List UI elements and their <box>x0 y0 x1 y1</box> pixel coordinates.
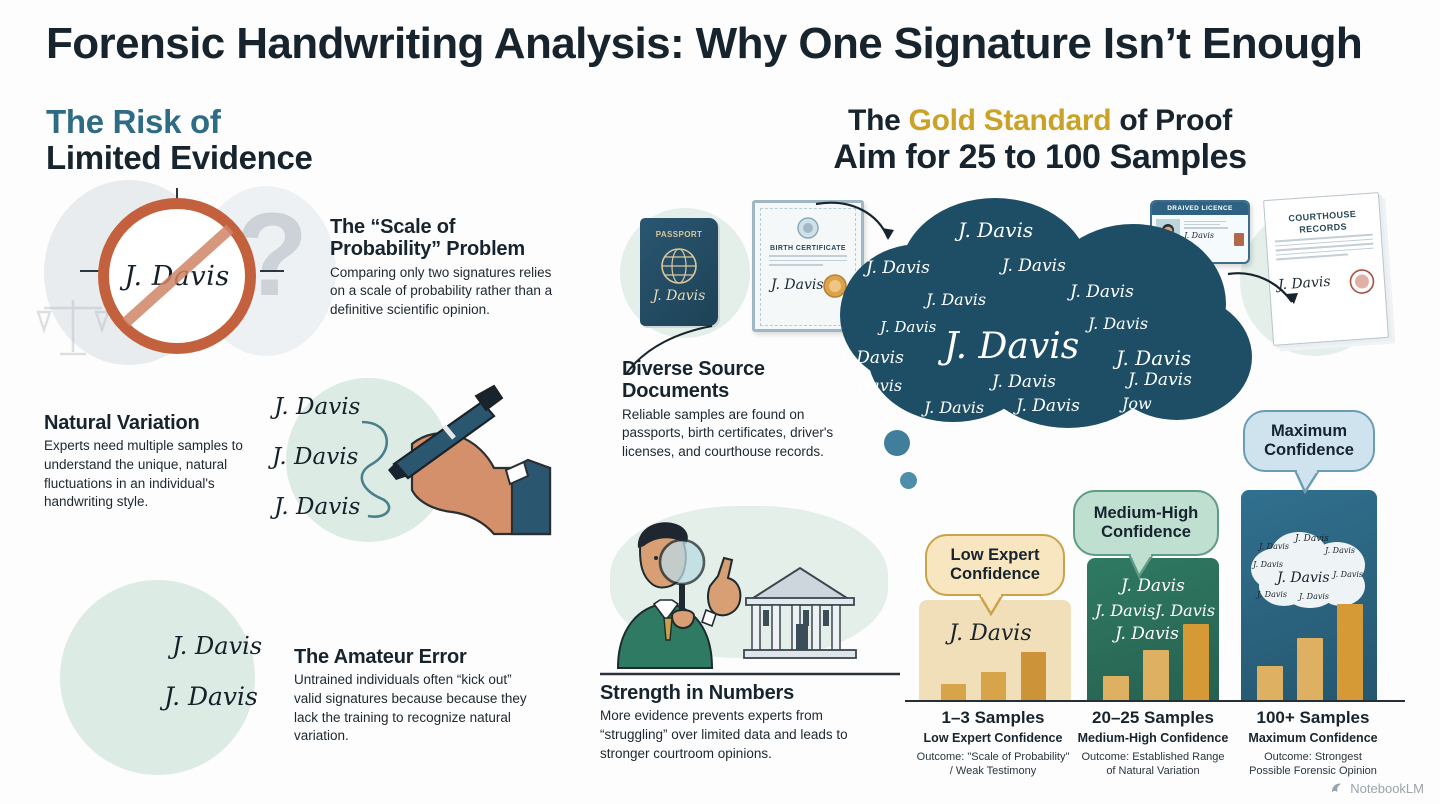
cloud-signature-center: J. Davis <box>944 326 1079 367</box>
bubble-tail-group-3 <box>1293 470 1321 494</box>
watermark-label: NotebookLM <box>1350 781 1424 796</box>
chart-bar-g2-b1 <box>1103 676 1129 700</box>
confidence-bar-chart: J. Davis Low Expert Confidence 1–3 Sampl… <box>905 470 1405 788</box>
passport-label: PASSPORT <box>640 230 718 239</box>
panel-signature-g2-3: J. Davis <box>1155 601 1215 620</box>
panel-signature-g3-3: J. Davis <box>1325 546 1355 555</box>
block-title: The Amateur Error <box>294 646 540 668</box>
right-heading-line1: The Gold Standard of Proof <box>790 104 1290 137</box>
right-section-heading: The Gold Standard of Proof Aim for 25 to… <box>790 104 1290 176</box>
cloud-signature: J. Davis <box>840 348 904 368</box>
cloud-signature: J. Davis <box>866 258 930 278</box>
rejected-signature-graphic: J. Davis <box>80 198 270 356</box>
cloud-signature: J. Davis <box>1016 396 1080 416</box>
caption-outcome-line1: Outcome: Strongest <box>1264 751 1362 763</box>
cloud-signature: J. Davis <box>1128 370 1192 390</box>
left-section-heading: The Risk of Limited Evidence <box>46 104 313 175</box>
bubble-line2: Confidence <box>950 565 1040 584</box>
caption-outcome-line2: / Weak Testimony <box>950 765 1036 777</box>
panel-signature-g2-4: J. Davis <box>1115 624 1179 644</box>
block-body: Reliable samples are found on passports,… <box>622 406 844 462</box>
left-heading-line2: Limited Evidence <box>46 140 313 176</box>
two-signature-circle-graphic <box>60 580 255 775</box>
caption-outcome: Outcome: "Scale of Probability" / Weak T… <box>905 750 1081 778</box>
block-title: The “Scale of Probability” Problem <box>330 216 566 261</box>
panel-signature-g2-1: J. Davis <box>1121 576 1185 596</box>
chart-caption-group-3: 100+ Samples Maximum Confidence Outcome:… <box>1221 708 1405 778</box>
bubble-tail-group-1 <box>977 594 1005 616</box>
cloud-signature: J. Davis <box>926 290 986 309</box>
certificate-signature: J. Davis <box>771 277 824 293</box>
cloud-signature: J. Davis <box>1070 282 1134 302</box>
right-heading-suffix: of Proof <box>1111 104 1232 137</box>
cloud-signature: J. Davis <box>924 398 984 417</box>
panel-signature-group-1: J. Davis <box>949 621 1032 646</box>
chart-bar-g1-b3 <box>1021 652 1046 700</box>
detective-icon <box>618 522 740 668</box>
block-body: Comparing only two signatures relies on … <box>330 264 566 320</box>
caption-confidence: Low Expert Confidence <box>905 731 1081 745</box>
caption-outcome-line1: Outcome: Established Range <box>1081 751 1224 763</box>
panel-signature-g3-7: J. Davis <box>1299 592 1329 601</box>
block-title: Diverse Source Documents <box>622 358 844 403</box>
text-block-diverse-source-documents: Diverse Source Documents Reliable sample… <box>622 358 844 462</box>
notebooklm-icon <box>1330 781 1345 796</box>
cloud-signature-short: Jow <box>1122 394 1152 413</box>
chart-caption-group-2: 20–25 Samples Medium-High Confidence Out… <box>1065 708 1241 778</box>
globe-icon <box>640 245 718 287</box>
block-title-line2: Probability” Problem <box>330 238 525 260</box>
block-body: More evidence prevents experts from “str… <box>600 707 876 763</box>
cloud-signature: J. Davis <box>1088 314 1148 333</box>
chart-bar-g3-b2 <box>1297 638 1323 700</box>
block-body: Experts need multiple samples to underst… <box>44 437 270 512</box>
caption-category: 1–3 Samples <box>905 708 1081 728</box>
passport-signature: J. Davis <box>640 288 718 304</box>
panel-signature-g3-4: J. Davis <box>1253 560 1283 569</box>
caption-outcome-line1: Outcome: "Scale of Probability" <box>917 751 1070 763</box>
caption-confidence: Medium-High Confidence <box>1065 731 1241 745</box>
bubble-line1: Maximum <box>1271 422 1347 441</box>
block-title: Strength in Numbers <box>600 682 876 704</box>
text-block-amateur-error: The Amateur Error Untrained individuals … <box>294 646 540 746</box>
chart-bar-g2-b2 <box>1143 650 1169 700</box>
block-title-line1: The “Scale of <box>330 216 455 238</box>
chart-bar-g1-b1 <box>941 684 966 700</box>
caption-outcome-line2: Possible Forensic Opinion <box>1249 765 1377 777</box>
caption-category: 100+ Samples <box>1221 708 1405 728</box>
decor-blob-blue-dot-1 <box>884 430 910 456</box>
bubble-tail-group-2 <box>1127 554 1155 578</box>
chart-caption-group-1: 1–3 Samples Low Expert Confidence Outcom… <box>905 708 1081 778</box>
left-heading-line1: The Risk of <box>46 104 313 140</box>
block-title-line1: Diverse Source <box>622 358 765 380</box>
panel-signature-g3-1: J. Davis <box>1259 542 1289 551</box>
panel-signature-g3-2: J. Davis <box>1295 534 1329 544</box>
confidence-bubble-group-3: Maximum Confidence <box>1243 410 1375 472</box>
bubble-line1: Medium-High <box>1094 504 1199 523</box>
chart-bar-g3-b1 <box>1257 666 1283 700</box>
circle-signature-1: J. Davis <box>172 632 262 660</box>
panel-signature-g3-6: J. Davis <box>1257 590 1287 599</box>
hand-pen-illustration <box>262 372 562 552</box>
caption-outcome: Outcome: Strongest Possible Forensic Opi… <box>1221 750 1405 778</box>
bubble-line2: Confidence <box>1264 441 1354 460</box>
chart-bar-g2-b3 <box>1183 624 1209 700</box>
crosshair-right-tick <box>260 270 284 272</box>
panel-signature-g3-5: J. Davis <box>1333 570 1363 579</box>
text-block-strength-in-numbers: Strength in Numbers More evidence preven… <box>600 682 876 763</box>
infographic-canvas: Forensic Handwriting Analysis: Why One S… <box>0 0 1440 804</box>
right-heading-line2: Aim for 25 to 100 Samples <box>790 139 1290 176</box>
block-body: Untrained individuals often “kick out” v… <box>294 671 540 746</box>
caption-outcome: Outcome: Established Range of Natural Va… <box>1065 750 1241 778</box>
confidence-bubble-group-1: Low Expert Confidence <box>925 534 1065 596</box>
right-heading-prefix: The <box>848 104 908 137</box>
text-block-natural-variation: Natural Variation Experts need multiple … <box>44 412 270 512</box>
caption-confidence: Maximum Confidence <box>1221 731 1405 745</box>
cloud-signature: J. Davis <box>842 376 902 395</box>
notebooklm-watermark: NotebookLM <box>1330 781 1424 796</box>
circle-signature-2: J. Davis <box>164 682 258 711</box>
block-title: Natural Variation <box>44 412 270 434</box>
courthouse-label-line2: RECORDS <box>1299 221 1347 234</box>
cloud-signature: J. Davis <box>1002 256 1066 276</box>
right-heading-gold: Gold Standard <box>909 104 1112 137</box>
courthouse-icon <box>744 568 856 658</box>
cloud-signature: J. Davis <box>958 218 1033 242</box>
block-title-line2: Documents <box>622 380 729 402</box>
page-title: Forensic Handwriting Analysis: Why One S… <box>46 20 1406 68</box>
caption-outcome-line2: of Natural Variation <box>1106 765 1199 777</box>
caption-category: 20–25 Samples <box>1065 708 1241 728</box>
chart-bar-g3-b3 <box>1337 604 1363 700</box>
cloud-signature: J. Davis <box>1116 346 1191 370</box>
signature-cloud-graphic: J. Davis J. Davis J. Davis J. Davis J. D… <box>840 198 1265 428</box>
hand-writing-signatures-graphic: J. Davis J. Davis J. Davis <box>262 372 562 552</box>
confidence-bubble-group-2: Medium-High Confidence <box>1073 490 1219 556</box>
detective-courthouse-illustration <box>600 492 900 682</box>
panel-signature-g2-2: J. Davis <box>1095 601 1155 620</box>
chart-bar-g1-b2 <box>981 672 1006 700</box>
court-stamp-icon <box>1347 266 1377 296</box>
text-block-scale-of-probability: The “Scale of Probability” Problem Compa… <box>330 216 566 320</box>
cloud-signature: J. Davis <box>992 372 1056 392</box>
cloud-signature: J. Davis <box>880 318 936 336</box>
bubble-line1: Low Expert <box>951 546 1040 565</box>
panel-signature-g3-center: J. Davis <box>1277 570 1330 586</box>
bubble-line2: Confidence <box>1101 523 1191 542</box>
passport-document-icon: PASSPORT J. Davis <box>640 218 718 326</box>
